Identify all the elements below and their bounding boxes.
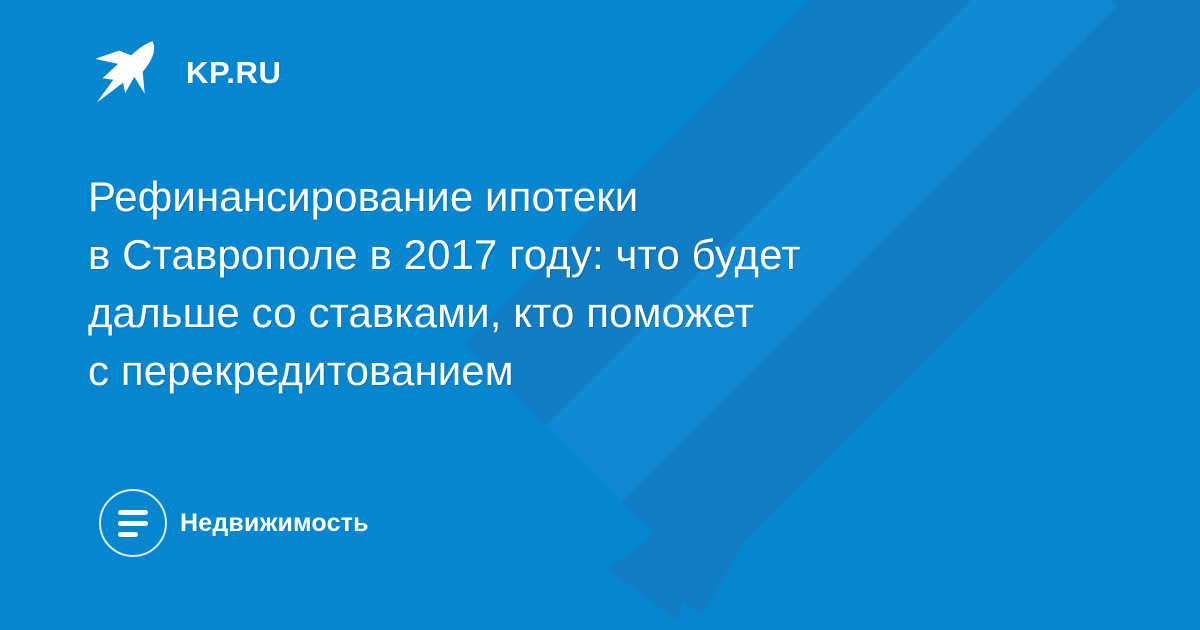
menu-bar-1 [118,510,148,515]
page-title: Рефинансирование ипотеки в Ставрополе в … [88,168,1018,400]
brand-logo[interactable]: KP.RU [92,36,281,108]
swallow-bird-icon [92,38,164,106]
category-icon-circle[interactable] [99,489,167,557]
menu-bar-2 [118,521,148,526]
page-title-line: дальше со ставками, кто поможет [88,284,1018,342]
category-badge[interactable]: Недвижимость [99,489,369,557]
hamburger-menu-icon [118,510,148,537]
page-title-line: с перекредитованием [88,342,1018,400]
page-title-line: в Ставрополе в 2017 году: что будет [88,226,1018,284]
social-share-card: KP.RU Рефинансирование ипотеки в Ставроп… [0,0,1200,630]
brand-name: KP.RU [186,57,281,88]
category-label: Недвижимость [180,511,369,536]
menu-bar-3 [118,532,138,537]
page-title-line: Рефинансирование ипотеки [88,168,1018,226]
